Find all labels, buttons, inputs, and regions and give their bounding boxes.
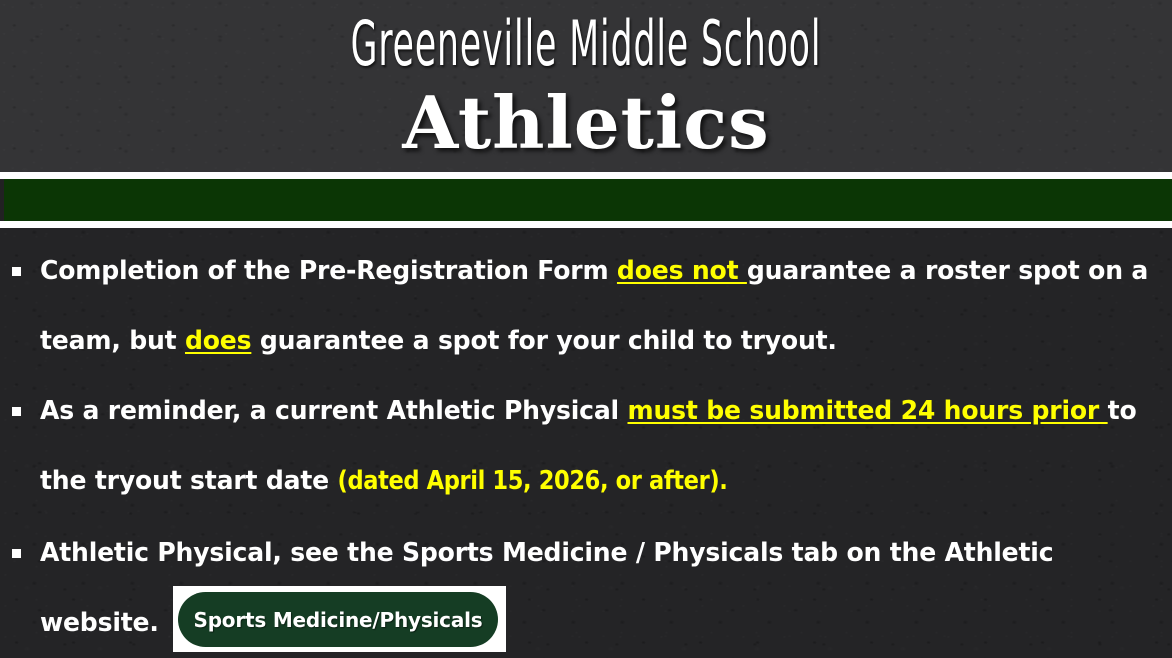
emphasis-underlined: does not [617, 256, 747, 286]
square-bullet-icon [12, 407, 21, 416]
list-item: As a reminder, a current Athletic Physic… [0, 376, 1172, 516]
list-item-text: As a reminder, a current Athletic Physic… [40, 376, 1171, 516]
divider-white-bottom [0, 221, 1172, 228]
school-name-heading: Greeneville Middle School [223, 8, 950, 80]
emphasis-underlined: does [185, 326, 251, 356]
list-item-text: Completion of the Pre-Registration Form … [40, 236, 1171, 376]
emphasis-highlight: (dated April 15, 2026, or after). [338, 466, 728, 496]
square-bullet-icon [12, 267, 21, 276]
divider-white-top [0, 172, 1172, 179]
page-title: Athletics [0, 82, 1172, 164]
text-run: Completion of the Pre-Registration Form [40, 256, 617, 286]
square-bullet-icon [12, 549, 21, 558]
title-block: Greeneville Middle School Athletics [0, 0, 1172, 172]
text-run: guarantee a spot for your child to tryou… [251, 326, 836, 356]
text-run: As a reminder, a current Athletic Physic… [40, 396, 628, 426]
green-accent-bar [4, 179, 1172, 221]
sports-medicine-physicals-button[interactable]: Sports Medicine/Physicals [178, 592, 498, 647]
emphasis-underlined: must be submitted 24 hours prior [628, 396, 1108, 426]
list-item: Completion of the Pre-Registration Form … [0, 236, 1172, 376]
